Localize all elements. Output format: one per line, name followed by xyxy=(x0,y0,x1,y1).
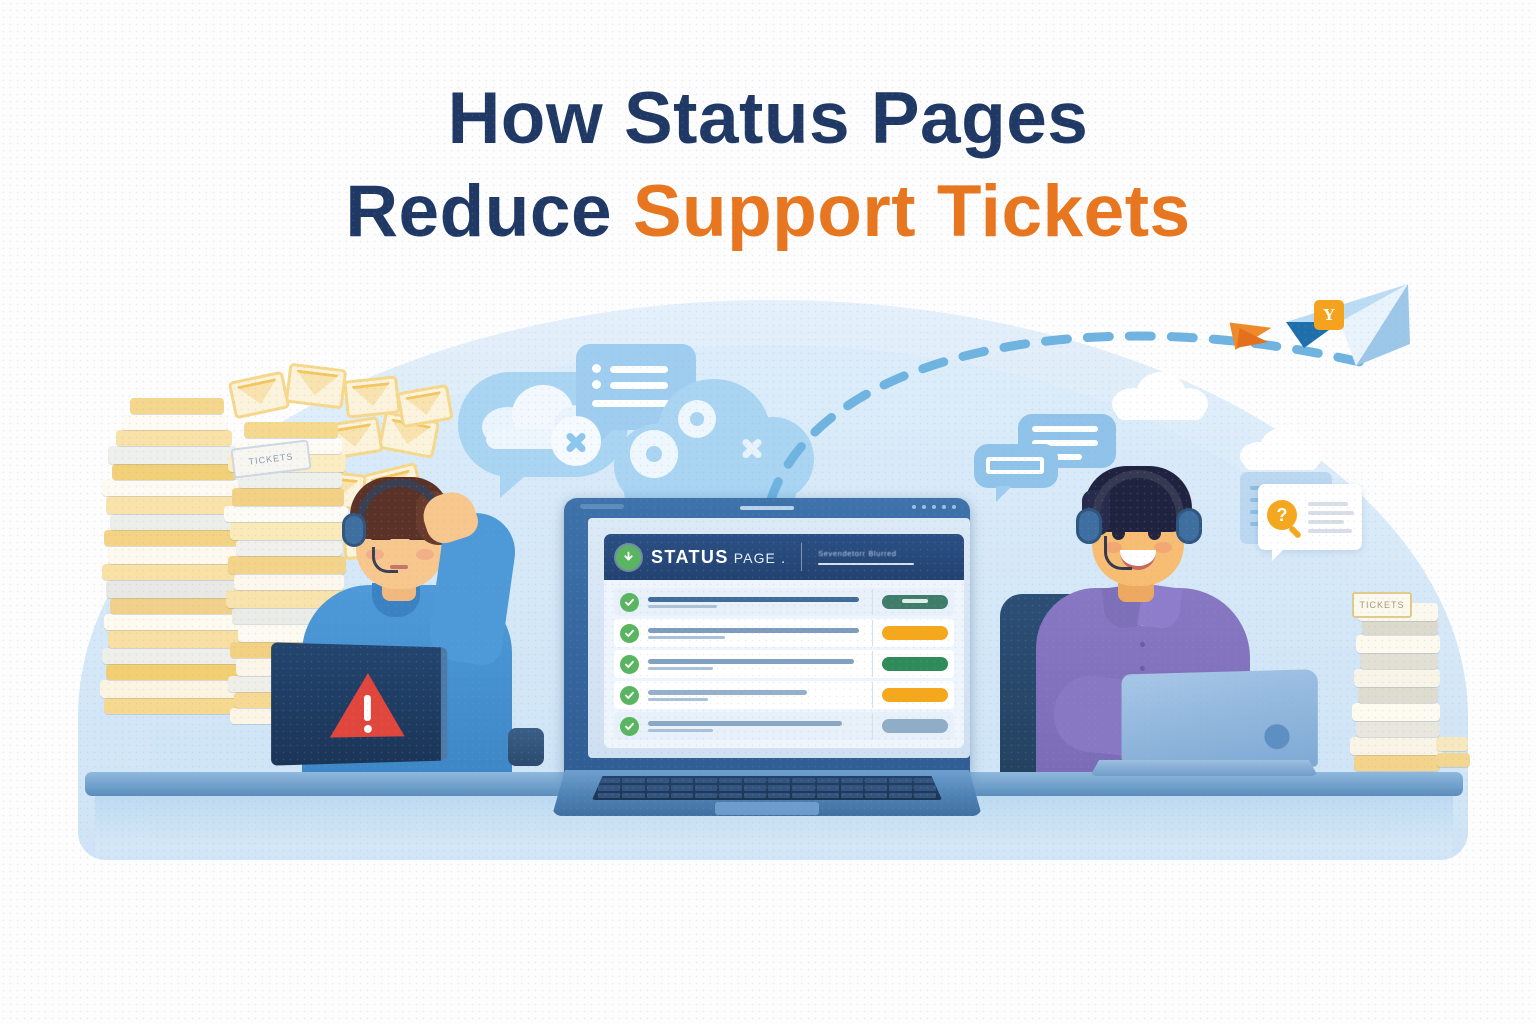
laptop-screen: STATUS PAGE . Sevendetorr Blurred xyxy=(588,518,970,758)
title-highlight: Support Tickets xyxy=(633,171,1191,252)
check-circle-icon xyxy=(620,624,639,643)
headset-earcup-icon xyxy=(342,513,366,547)
title-line-2: Reduce Support Tickets xyxy=(0,165,1536,258)
row-divider xyxy=(872,589,873,615)
status-badge xyxy=(882,626,948,640)
illustration-canvas: ? Y xyxy=(0,0,1536,1024)
check-circle-icon xyxy=(620,655,639,674)
status-page-meta-rule xyxy=(818,563,914,565)
plane-trail-icon xyxy=(1237,328,1269,352)
laptop-logo-icon xyxy=(1264,724,1289,749)
alert-laptop[interactable] xyxy=(274,645,460,773)
status-page-title-group: STATUS PAGE . xyxy=(651,547,785,568)
table-row[interactable] xyxy=(614,681,954,709)
page-title: How Status Pages Reduce Support Tickets xyxy=(0,72,1536,259)
row-divider xyxy=(872,620,873,646)
title-prefix: Reduce xyxy=(345,171,632,252)
check-circle-icon xyxy=(620,593,639,612)
table-row[interactable] xyxy=(614,712,954,740)
status-page-header: STATUS PAGE . Sevendetorr Blurred xyxy=(604,534,964,580)
row-text-lines xyxy=(648,628,863,639)
row-divider xyxy=(872,651,873,677)
plane-badge-icon: Y xyxy=(1314,300,1344,330)
status-badge xyxy=(882,595,948,609)
gear-icon xyxy=(678,400,716,438)
check-circle-icon xyxy=(620,717,639,736)
laptop-keyboard[interactable] xyxy=(592,776,942,800)
laptop-lid: STATUS PAGE . Sevendetorr Blurred xyxy=(564,498,970,776)
happy-agent-laptop[interactable] xyxy=(1078,672,1318,782)
laptop-camera-bar xyxy=(740,506,794,510)
happy-agent-laptop-screen xyxy=(1122,669,1318,767)
ticket-stack-label: TICKETS xyxy=(1352,592,1412,618)
download-circle-icon xyxy=(616,545,641,570)
status-page-meta-text: Sevendetorr Blurred xyxy=(818,549,914,558)
status-badge xyxy=(882,657,948,671)
row-text-lines xyxy=(648,721,863,732)
status-badge xyxy=(882,688,948,702)
row-text-lines xyxy=(648,690,863,701)
status-page-laptop[interactable]: STATUS PAGE . Sevendetorr Blurred xyxy=(552,498,982,818)
x-mark-icon xyxy=(551,416,601,466)
table-row[interactable] xyxy=(614,588,954,616)
status-page-subtitle: PAGE xyxy=(734,550,776,566)
alert-laptop-screen xyxy=(271,642,447,765)
status-page-title: STATUS xyxy=(651,547,729,568)
status-badge xyxy=(882,719,948,733)
check-circle-icon xyxy=(620,686,639,705)
table-row[interactable] xyxy=(614,619,954,647)
table-row[interactable] xyxy=(614,650,954,678)
laptop-trackpad[interactable] xyxy=(715,802,819,815)
row-divider xyxy=(872,682,873,708)
row-text-lines xyxy=(648,597,863,608)
row-text-lines xyxy=(648,659,863,670)
warning-dot-icon xyxy=(364,725,372,733)
warning-exclamation-icon xyxy=(364,695,371,721)
mouse-device[interactable] xyxy=(508,728,544,766)
laptop-hinge-notch xyxy=(580,504,624,509)
title-line-1: How Status Pages xyxy=(0,72,1536,165)
header-divider xyxy=(801,543,802,571)
status-page-rows xyxy=(604,580,964,748)
status-page-meta: Sevendetorr Blurred xyxy=(818,549,914,565)
laptop-indicator-dots xyxy=(912,505,956,509)
row-divider xyxy=(872,713,873,739)
paper-plane-icon xyxy=(1282,282,1412,372)
status-page-dot: . xyxy=(781,550,785,567)
headset-earcup-icon xyxy=(1176,508,1202,544)
cloud-icon xyxy=(1388,452,1450,484)
happy-agent-laptop-base xyxy=(1090,760,1318,776)
headset-earcup-icon xyxy=(1076,508,1102,544)
gear-icon xyxy=(630,430,678,478)
